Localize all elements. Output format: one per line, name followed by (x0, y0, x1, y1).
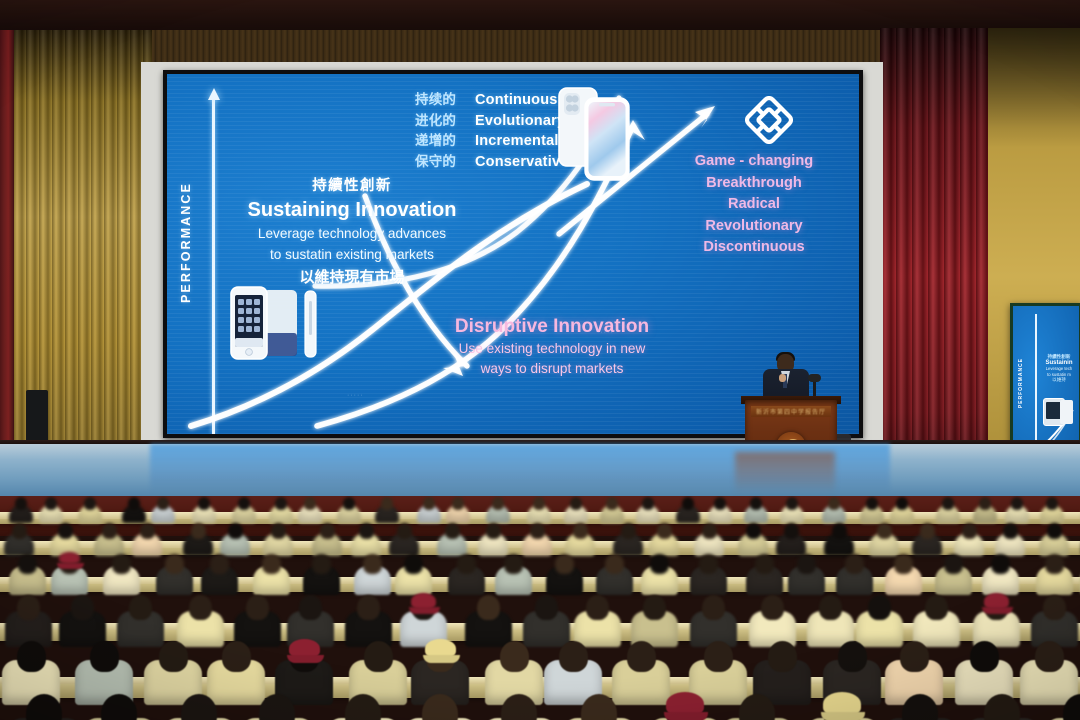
audience-person-head (533, 497, 545, 510)
audience-person-head (1035, 641, 1064, 672)
audience-person-head (866, 497, 878, 510)
audience-person-head (423, 497, 435, 510)
stage-curtain-left-gold (0, 30, 152, 475)
sustaining-innovation-block: 持續性創新 Sustaining Innovation Leverage tec… (227, 174, 477, 287)
audience-person-head (210, 554, 229, 574)
audience-person-head (573, 523, 588, 539)
audience-person-head (228, 523, 243, 539)
audience-person-cap-brim (423, 655, 460, 663)
audience-person-head (797, 554, 816, 574)
audience-person-head (535, 595, 558, 620)
audience-person-head (1043, 595, 1066, 620)
audience-person-head (979, 497, 991, 510)
audience-person-head (559, 641, 588, 672)
game-changing-item-3: Revolutionary (667, 216, 841, 238)
legacy-smartphone-image (225, 281, 321, 369)
audience-person-head (555, 554, 574, 574)
game-changing-item-4: Discontinuous (667, 237, 841, 259)
audience-person-head (18, 554, 37, 574)
audience-person-head (838, 641, 867, 672)
audience-person-head (246, 595, 269, 620)
audience-person-head (702, 523, 717, 539)
sustaining-zh-title: 持續性創新 (227, 174, 477, 195)
attr-zh-1: 进化的 (415, 111, 456, 132)
audience-person-head (262, 554, 281, 574)
audience-person-head (71, 595, 94, 620)
audience-person-head (819, 595, 842, 620)
curtain-left-red-edge (0, 30, 14, 475)
slide-watermark-2: ····· (597, 329, 614, 336)
audience-person-head (704, 641, 733, 672)
audience-person-head (320, 523, 335, 539)
audience-area (0, 496, 1080, 720)
audience-person-head (275, 497, 287, 510)
disruptive-subtitle-1: Use existing technology in new (423, 340, 681, 358)
microphone-head-icon (808, 374, 821, 382)
audience-person-head (17, 641, 46, 672)
audience-person-head (312, 554, 331, 574)
sustaining-title: Sustaining Innovation (227, 199, 477, 222)
audience-person-head (1047, 523, 1062, 539)
audience-person-head (404, 554, 423, 574)
audience-person-head (363, 554, 382, 574)
audience-person-head (900, 641, 929, 672)
audience-person-head (58, 523, 73, 539)
slide-watermark-1: ····· (347, 392, 364, 399)
audience-person-head (15, 497, 27, 510)
audience-person-cap-brim (409, 607, 440, 614)
audience-person-head (343, 497, 355, 510)
audience-person-head (699, 554, 718, 574)
attr-zh-3: 保守的 (415, 152, 456, 173)
audience-person-cap-brim (664, 712, 708, 720)
audience-person-head (606, 497, 618, 510)
audience-person-head (925, 595, 948, 620)
audience-person-head (12, 523, 27, 539)
audience-person-head (504, 554, 523, 574)
audience-person-head (198, 497, 210, 510)
audience-person-head (357, 595, 380, 620)
audience-person-head (222, 641, 251, 672)
audience-person-head (714, 497, 726, 510)
audience-person-head (500, 641, 529, 672)
stage-speaker-cabinet-left (26, 390, 48, 442)
audience-person-head (84, 497, 96, 510)
audience-person-head (381, 497, 393, 510)
audience-person-head (112, 554, 131, 574)
audience-person-head (530, 523, 545, 539)
disruptive-title: Disruptive Innovation (423, 316, 681, 338)
stage-curtain-right-red (880, 28, 990, 480)
audience-person-head (761, 595, 784, 620)
audience-person-head (944, 554, 963, 574)
audience-person-head (605, 554, 624, 574)
audience-person-head (1045, 554, 1064, 574)
audience-person-head (128, 497, 140, 510)
audience-person-head (962, 523, 977, 539)
audience-person-head (17, 595, 40, 620)
game-changing-item-0: Game - changing (667, 151, 841, 173)
audience-person-cap-brim (287, 655, 324, 663)
audience-person-head (642, 497, 654, 510)
audience-person-head (877, 523, 892, 539)
right-wall-shadow (988, 28, 1080, 148)
audience-person-head (570, 497, 582, 510)
audience-person-head (746, 523, 761, 539)
audience-person-head (657, 523, 672, 539)
podium-plate-text: 新沂市第四中学报告厅 (756, 407, 826, 416)
audience-person-head (784, 523, 799, 539)
audience-person-head (1003, 523, 1018, 539)
chinese-knot-diamond-logo-icon (745, 96, 793, 144)
disruptive-innovation-block: Disruptive Innovation Use existing techn… (423, 316, 681, 379)
game-changing-item-1: Breakthrough (667, 173, 841, 195)
audience-person-head (445, 523, 460, 539)
audience-person-head (896, 497, 908, 510)
audience-person-head (486, 523, 501, 539)
audience-person-head (991, 554, 1010, 574)
audience-person-head (129, 595, 152, 620)
wall-monitor-phone-image-2 (1060, 400, 1073, 424)
audience-person-head (492, 497, 504, 510)
podium-name-plate: 新沂市第四中学报告厅 (751, 406, 831, 417)
audience-person-head (304, 497, 316, 510)
sustaining-subtitle-2: to sustatin existing markets (227, 246, 477, 264)
audience-person-head (828, 497, 840, 510)
speaker-hand (779, 374, 786, 382)
sustaining-subtitle-1: Leverage technology advances (227, 225, 477, 243)
audience-person-cap-brim (821, 712, 865, 720)
audience-person-head (159, 641, 188, 672)
audience-person-head (45, 497, 57, 510)
audience-person-head (299, 595, 322, 620)
audience-person-head (102, 523, 117, 539)
stage-floor-podium-reflection (735, 452, 835, 494)
game-changing-item-2: Radical (667, 194, 841, 216)
disruptive-subtitle-2: ways to disrupt markets (423, 360, 681, 378)
audience-person-head (271, 523, 286, 539)
audience-person-head (457, 554, 476, 574)
audience-person-head (942, 497, 954, 510)
audience-person-head (140, 523, 155, 539)
audience-person-head (920, 523, 935, 539)
audience-person-head (157, 497, 169, 510)
audience-person-head (627, 641, 656, 672)
audience-person-head (643, 595, 666, 620)
audience-person-head (189, 595, 212, 620)
audience-person-head (832, 523, 847, 539)
audience-person-head (768, 641, 797, 672)
audience-person-head (702, 595, 725, 620)
audience-person-head (364, 641, 393, 672)
attributes-chinese-column: 持续的 进化的 递增的 保守的 (415, 90, 456, 172)
audience-person-head (755, 554, 774, 574)
audience-person-head (359, 523, 374, 539)
audience-person-head (868, 595, 891, 620)
attr-zh-0: 持续的 (415, 90, 456, 111)
audience-person-head (452, 497, 464, 510)
attr-zh-2: 递增的 (415, 131, 456, 152)
audience-person-head (682, 497, 694, 510)
audience-person-head (1011, 497, 1023, 510)
audience-person-head (165, 554, 184, 574)
audience-person-head (621, 523, 636, 539)
audience-person-cap-brim (982, 607, 1013, 614)
audience-person-head (586, 595, 609, 620)
audience-person-head (397, 523, 412, 539)
audience-person-head (238, 497, 250, 510)
audience-person-head (750, 497, 762, 510)
audience-person-head (894, 554, 913, 574)
audience-person-head (90, 641, 119, 672)
audience-person-head (650, 554, 669, 574)
auditorium-photo: PERFORMANCE (0, 0, 1080, 720)
audience-person-cap-brim (57, 563, 84, 569)
audience-person-head (1046, 497, 1058, 510)
audience-person-head (191, 523, 206, 539)
modern-smartphone-image (555, 84, 635, 184)
audience-person-head (477, 595, 500, 620)
audience-person-head (845, 554, 864, 574)
game-changing-block: Game - changing Breakthrough Radical Rev… (667, 151, 841, 259)
audience-person-head (786, 497, 798, 510)
audience-person-head (970, 641, 999, 672)
